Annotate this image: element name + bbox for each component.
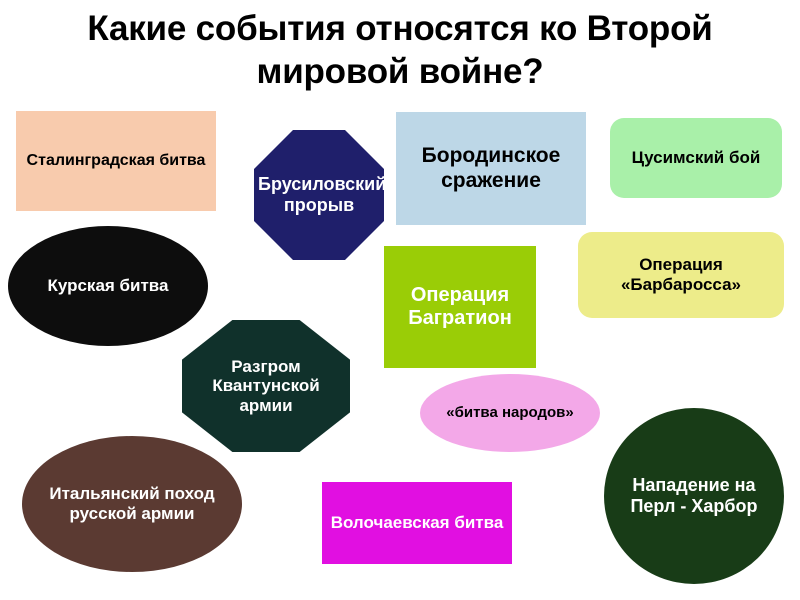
shape-borodinskoe-srazhenie: Бородинское сражение — [396, 112, 586, 225]
shape-volochaevskaya-bitva-label: Волочаевская битва — [322, 513, 512, 533]
shape-bitva-narodov: «битва народов» — [420, 374, 600, 452]
shape-razgrom-kvantunskoy-armii-label: Разгром Квантунской армии — [182, 357, 350, 416]
shape-operatsiya-bagration-label: Операция Багратион — [384, 284, 536, 330]
shape-stalingradskaya-bitva: Сталинградская битва — [16, 111, 216, 211]
shape-napadenie-na-perl-harbor: Нападение на Перл - Харбор — [604, 408, 784, 584]
shape-tsusimskiy-boy: Цусимский бой — [610, 118, 782, 198]
shape-stalingradskaya-bitva-label: Сталинградская битва — [16, 152, 216, 170]
shape-tsusimskiy-boy-label: Цусимский бой — [610, 148, 782, 168]
slide-canvas: Какие события относятся ко Второй мирово… — [0, 0, 800, 600]
shape-razgrom-kvantunskoy-armii: Разгром Квантунской армии — [182, 320, 350, 452]
shape-borodinskoe-srazhenie-label: Бородинское сражение — [396, 144, 586, 192]
shape-italyanskiy-pohod-russkoy-armii: Итальянский поход русской армии — [22, 436, 242, 572]
page-title: Какие события относятся ко Второй мирово… — [30, 8, 770, 93]
shape-brusilovskiy-proryv: Брусиловский прорыв — [254, 130, 384, 260]
shape-napadenie-na-perl-harbor-label: Нападение на Перл - Харбор — [604, 475, 784, 516]
shape-brusilovskiy-proryv-label: Брусиловский прорыв — [254, 174, 384, 215]
shape-volochaevskaya-bitva: Волочаевская битва — [322, 482, 512, 564]
shape-italyanskiy-pohod-russkoy-armii-label: Итальянский поход русской армии — [22, 484, 242, 523]
shape-operatsiya-bagration: Операция Багратион — [384, 246, 536, 368]
shape-kurskaya-bitva-label: Курская битва — [8, 276, 208, 296]
shape-kurskaya-bitva: Курская битва — [8, 226, 208, 346]
shape-operatsiya-barbarossa: Операция «Барбаросса» — [578, 232, 784, 318]
shape-operatsiya-barbarossa-label: Операция «Барбаросса» — [578, 255, 784, 294]
shape-bitva-narodov-label: «битва народов» — [420, 404, 600, 421]
